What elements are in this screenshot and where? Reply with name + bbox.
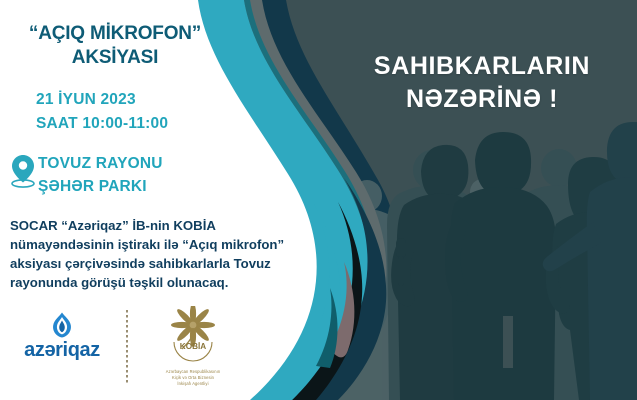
daisy-flower-icon: KOBİA	[162, 306, 224, 368]
description-line-4: rayonunda görüşü təşkil olunacaq.	[10, 273, 330, 292]
left-content-column: “AÇIQ MİKROFON” AKSİYASI 21 İYUN 2023 SA…	[0, 0, 340, 400]
kobia-subtitle: Azərbaycan Respublikasının Kiçik və Orta…	[144, 369, 242, 387]
event-datetime: 21 İYUN 2023 SAAT 10:00-11:00	[36, 88, 168, 136]
title-line-1: “AÇIQ MİKROFON”	[0, 22, 230, 46]
title-line-2: AKSİYASI	[0, 46, 230, 70]
location-line-1: TOVUZ RAYONU	[38, 152, 163, 175]
event-title: “AÇIQ MİKROFON” AKSİYASI	[0, 22, 230, 70]
description-line-2: nümayəndəsinin iştirakı ilə “Açıq mikrof…	[10, 235, 330, 254]
kobia-mark-label: KOBİA	[180, 341, 206, 351]
azeriqaz-logo: azəriqaz	[14, 306, 110, 360]
sponsor-logos: azəriqaz	[14, 306, 242, 387]
map-pin-icon	[10, 154, 36, 188]
description-line-3: aksiyası çərçivəsində sahibkarlarla Tovu…	[10, 254, 330, 273]
kobia-logo: KOBİA Azərbaycan Respublikasının Kiçik v…	[144, 306, 242, 387]
location-line-2: ŞƏHƏR PARKI	[38, 175, 163, 198]
event-location: TOVUZ RAYONU ŞƏHƏR PARKI	[10, 152, 163, 199]
event-time: SAAT 10:00-11:00	[36, 112, 168, 136]
location-text: TOVUZ RAYONU ŞƏHƏR PARKI	[38, 152, 163, 199]
event-description: SOCAR “Azəriqaz” İB-nin KOBİA nümayəndəs…	[10, 216, 330, 293]
main-headline: SAHIBKARLARIN NƏZƏRİNƏ !	[343, 50, 621, 115]
event-date: 21 İYUN 2023	[36, 88, 168, 112]
headline-line-2: NƏZƏRİNƏ !	[343, 83, 621, 116]
description-line-1: SOCAR “Azəriqaz” İB-nin KOBİA	[10, 216, 330, 235]
event-announcement-poster: “AÇIQ MİKROFON” AKSİYASI 21 İYUN 2023 SA…	[0, 0, 637, 400]
headline-line-1: SAHIBKARLARIN	[343, 50, 621, 83]
flame-icon	[51, 312, 73, 338]
logo-divider	[126, 310, 128, 384]
kobia-subtitle-line-3: İnkişafı Agentliyi	[144, 381, 242, 387]
azeriqaz-wordmark: azəriqaz	[14, 340, 110, 360]
